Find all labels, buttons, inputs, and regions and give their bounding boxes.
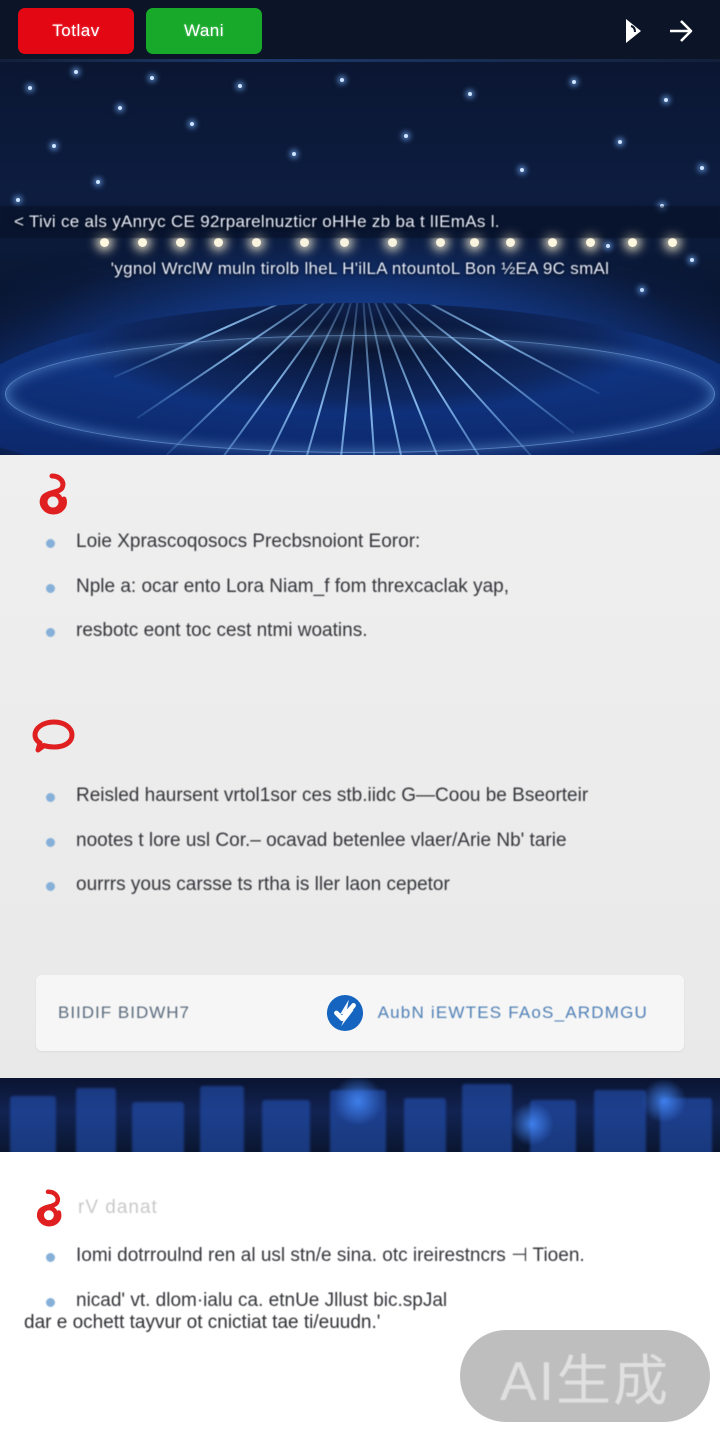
crowd-banner-image xyxy=(0,1078,720,1152)
red-ribbon-icon xyxy=(32,472,72,516)
bullet-list-two: Reisled haursent vrtol1sor ces stb.iidc … xyxy=(0,782,720,916)
footer-tail-text: dar e ochett tayvur ot cnictiat tae ti/e… xyxy=(24,1312,380,1334)
light-rays xyxy=(0,303,720,458)
top-toolbar: Totlav Wani xyxy=(0,0,720,62)
share-arrow-icon[interactable] xyxy=(668,16,694,46)
primary-red-button[interactable]: Totlav xyxy=(18,8,134,54)
play-cursor-icon[interactable] xyxy=(620,16,646,46)
list-item: nicad' vt. dlom·ialu ca. etnUe Jllust bi… xyxy=(38,1287,682,1316)
red-speech-bubble-icon xyxy=(32,718,76,754)
stadium-lights-row xyxy=(0,236,720,250)
red-ribbon-icon xyxy=(30,1188,66,1228)
ai-watermark-text: AI生成 xyxy=(500,1336,670,1416)
blue-verified-lightning-icon xyxy=(326,994,364,1032)
list-item: nootes t lore usl Cor.– ocavad betenlee … xyxy=(38,827,682,856)
footer-heading-text: rV danat xyxy=(78,1197,158,1219)
list-item: Reisled haursent vrtol1sor ces stb.iidc … xyxy=(38,782,682,811)
source-card[interactable]: BIIDIF BIDWH7 AubN iEWTES FAoS_ARDMGU xyxy=(36,975,684,1051)
hero-caption-secondary: 'ygnol WrclW muln tirolb lheL H'ilLA nto… xyxy=(0,253,720,285)
hero-caption-primary: < Tivi ce als yAnryc CE 92rparelnuzticr … xyxy=(0,206,720,238)
secondary-green-button[interactable]: Wani xyxy=(146,8,262,54)
field-projection xyxy=(0,303,720,458)
list-item: ourrrs yous carsse ts rtha is ller laon … xyxy=(38,871,682,900)
list-item: Iomi dotrroulnd ren al usl stn/e sina. o… xyxy=(38,1242,682,1271)
footer-heading-group: rV danat xyxy=(30,1188,158,1228)
publisher-name: AubN iEWTES FAoS_ARDMGU xyxy=(378,1003,648,1023)
source-card-label: BIIDIF BIDWH7 xyxy=(58,1003,190,1023)
hero-stadium-image: < Tivi ce als yAnryc CE 92rparelnuzticr … xyxy=(0,48,720,458)
toolbar-icon-group xyxy=(620,16,702,46)
bullet-list-one: Loie Xprascoqosocs Precbsnoiont Eoror: N… xyxy=(0,528,720,662)
list-item: Loie Xprascoqosocs Precbsnoiont Eoror: xyxy=(38,528,682,557)
list-item: resbotc eont toc cest ntmi woatins. xyxy=(38,617,682,646)
ai-generated-watermark: AI生成 xyxy=(460,1330,710,1422)
list-item: Nple a: ocar ento Lora Niam_f fom threxc… xyxy=(38,573,682,602)
publisher-group: AubN iEWTES FAoS_ARDMGU xyxy=(326,994,662,1032)
